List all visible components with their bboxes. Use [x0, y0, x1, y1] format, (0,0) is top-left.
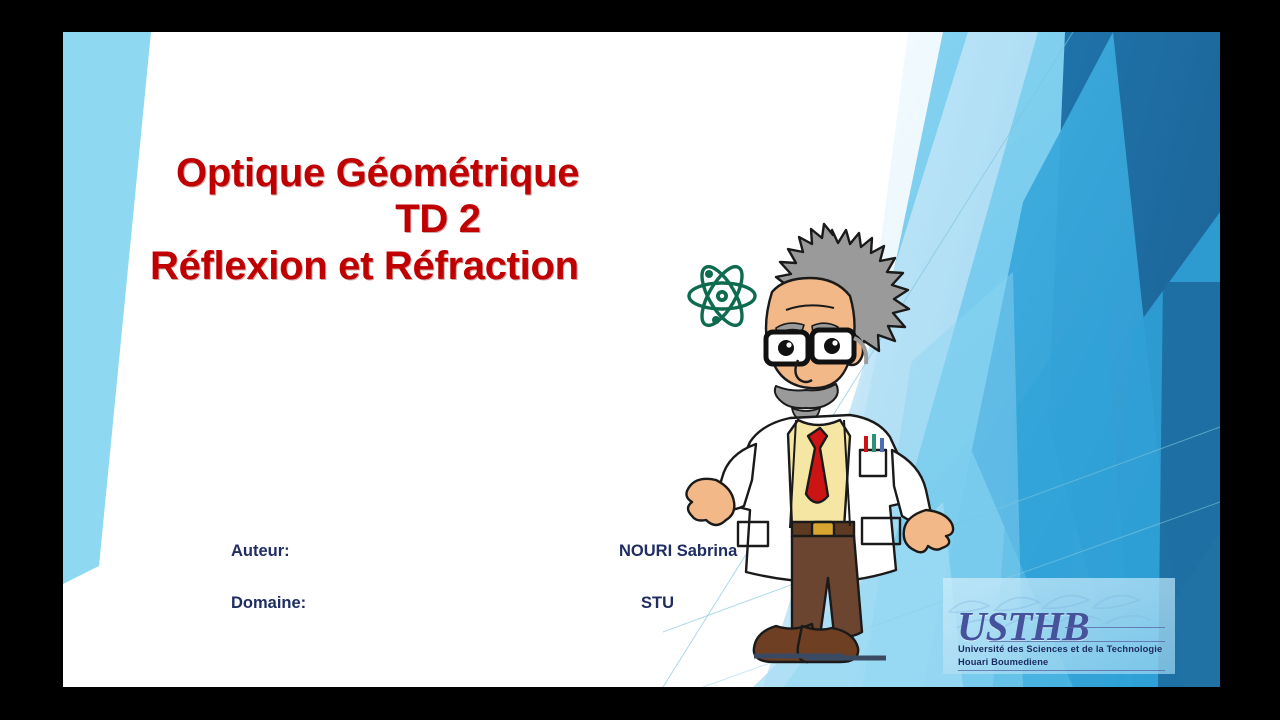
eye-left [778, 340, 794, 356]
domain-value: STU [641, 594, 674, 613]
logo-rule-1 [1065, 627, 1165, 628]
belt-buckle [812, 522, 834, 537]
hand-right [904, 510, 953, 552]
logo-rule-3 [958, 670, 1165, 671]
presentation-slide: Optique Géométrique TD 2 Réflexion et Ré… [63, 32, 1220, 687]
logo-rule-2 [989, 641, 1165, 642]
logo-subtitle-line-1: Université des Sciences et de la Technol… [958, 644, 1162, 654]
atom-icon [689, 261, 755, 331]
title-line-1: Optique Géométrique [158, 150, 778, 196]
usthb-logo: USTHB Université des Sciences et de la T… [943, 578, 1175, 674]
cartoon-scientist-illustration [680, 222, 970, 512]
domain-label: Domaine: [231, 594, 306, 613]
screenshot-viewport: Optique Géométrique TD 2 Réflexion et Ré… [0, 0, 1280, 720]
logo-acronym: USTHB [957, 602, 1089, 650]
author-value: NOURI Sabrina [619, 542, 737, 561]
left-wedge-shape [63, 32, 151, 584]
eye-right [824, 338, 840, 354]
logo-subtitle-line-2: Houari Boumediene [958, 657, 1048, 667]
author-label: Auteur: [231, 542, 290, 561]
